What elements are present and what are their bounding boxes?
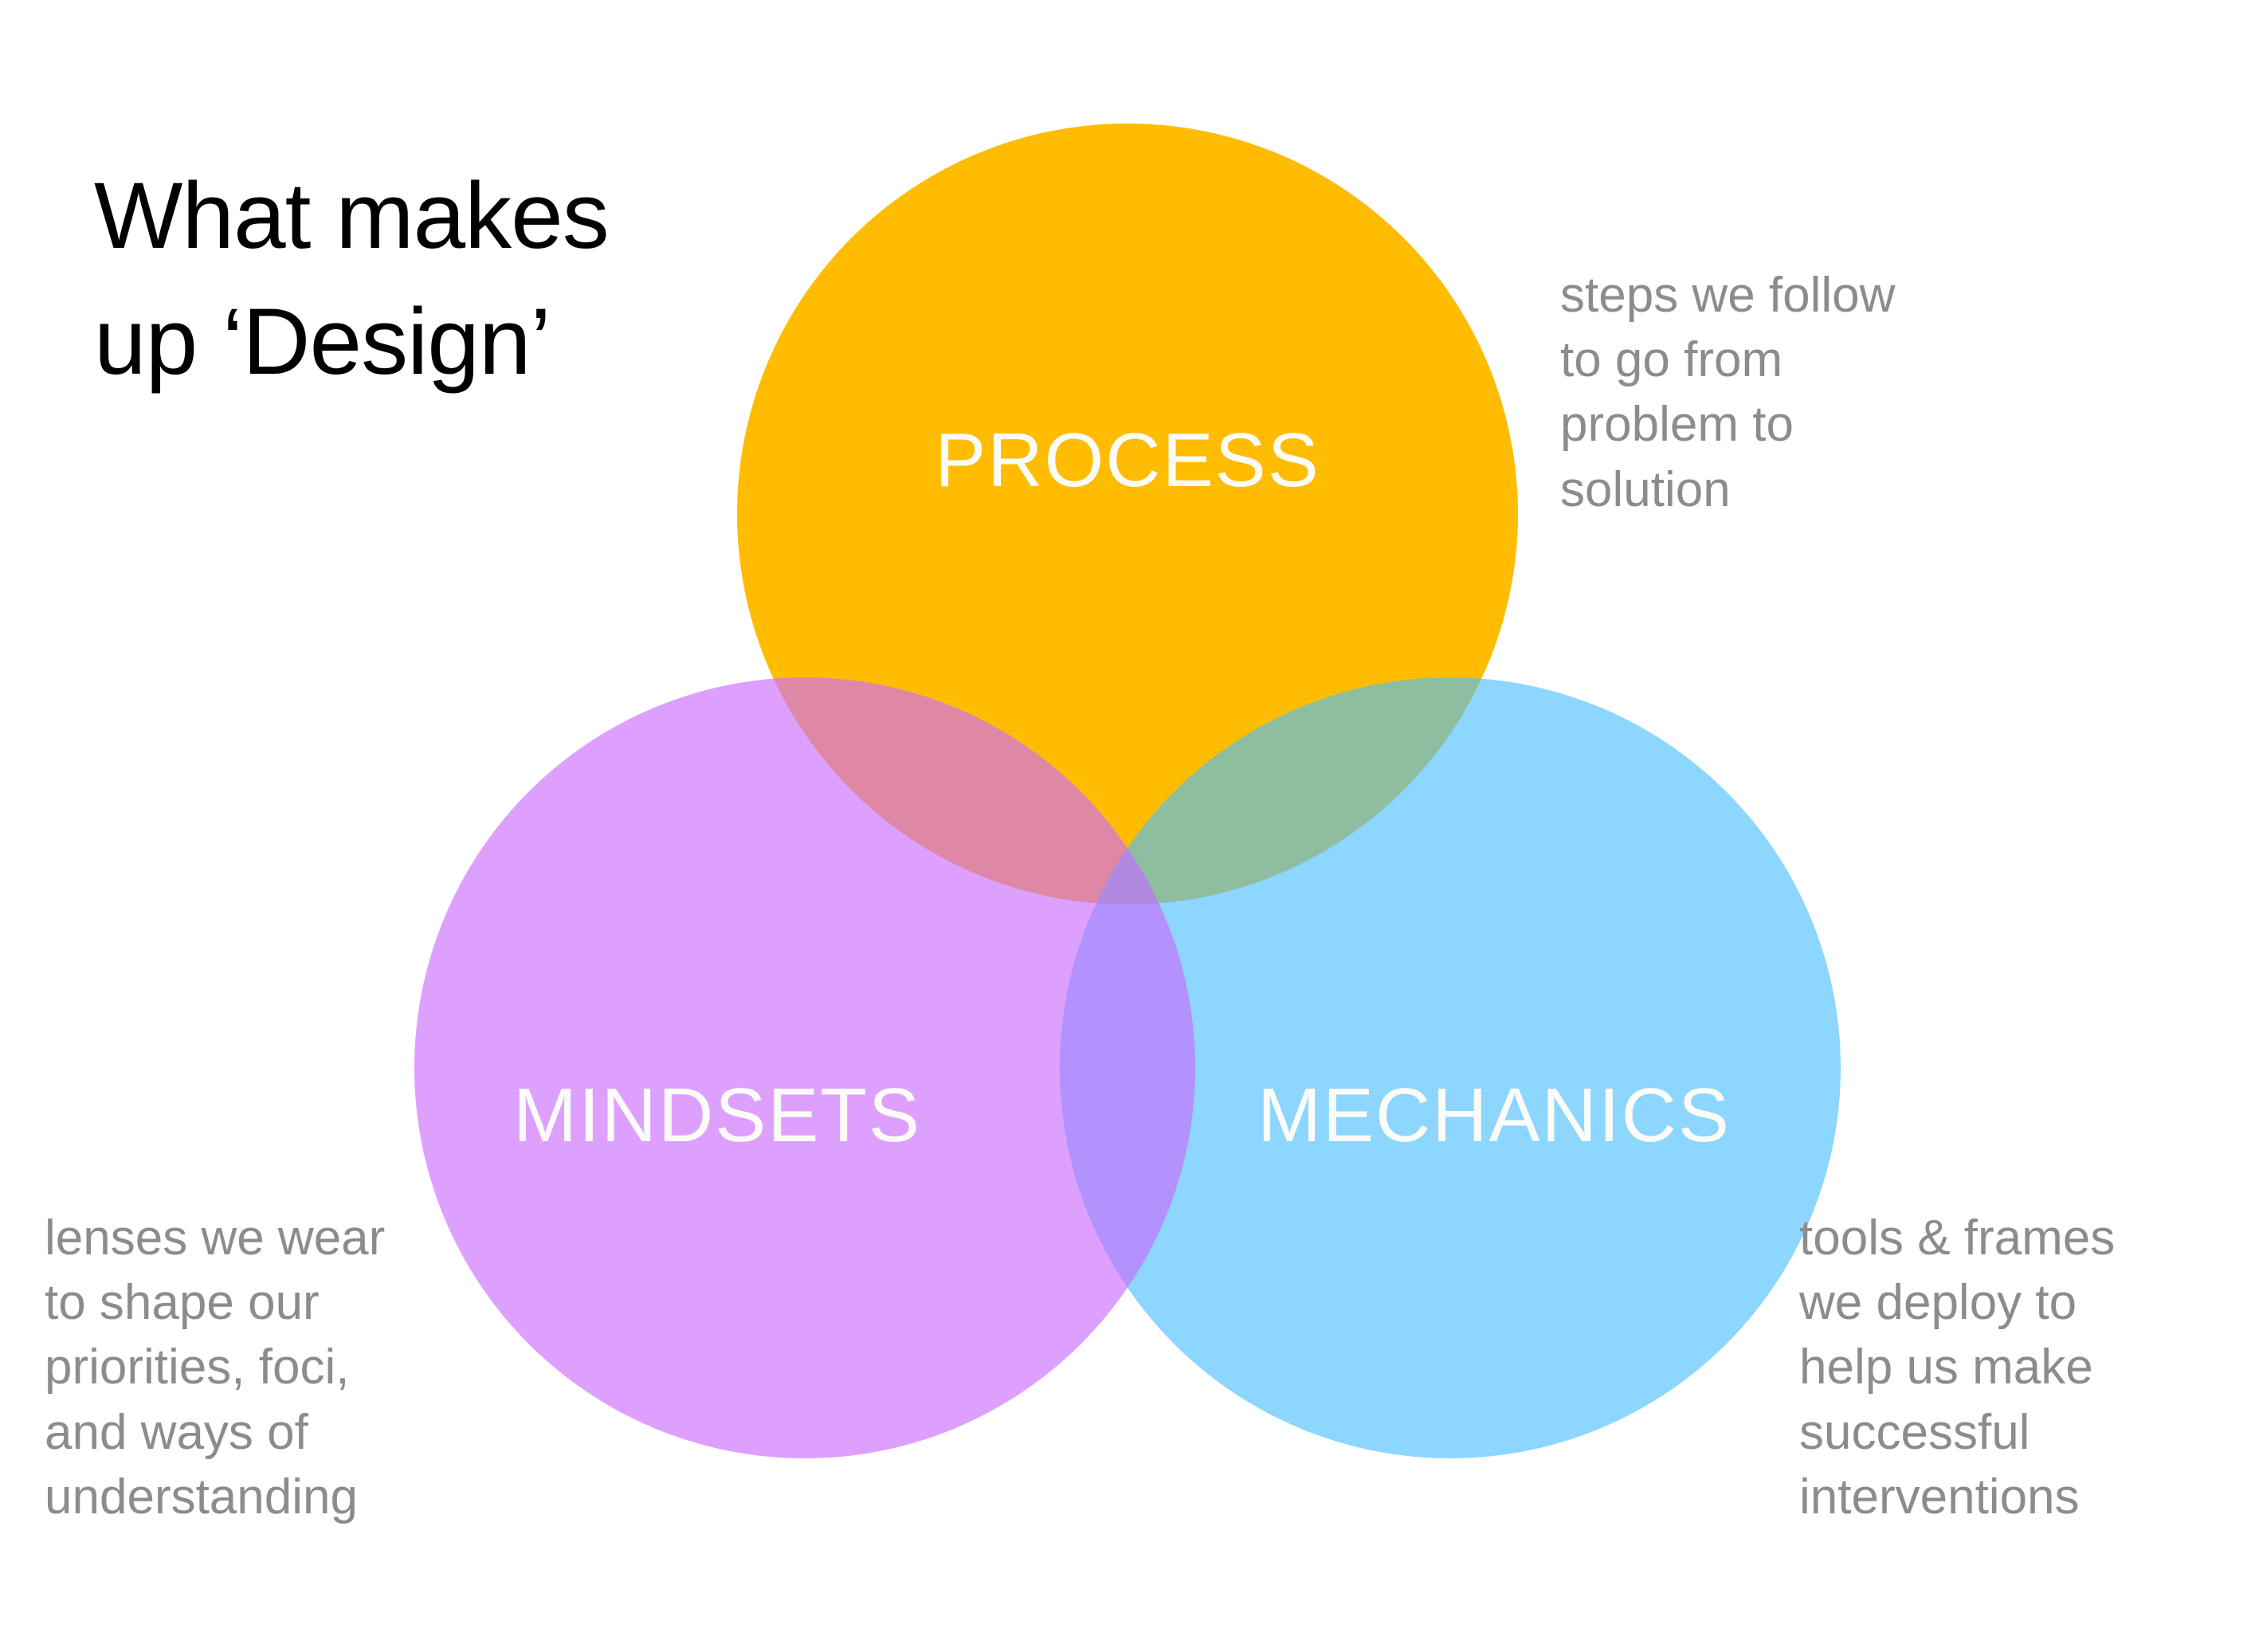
venn-overlap-all bbox=[737, 124, 1518, 904]
venn-circle-mechanics bbox=[1060, 677, 1841, 1458]
page-title: What makes up ‘Design’ bbox=[94, 153, 779, 405]
slide-canvas: What makes up ‘Design’ bbox=[0, 0, 2259, 1652]
description-mechanics: tools & frames we deploy to help us make… bbox=[1799, 1206, 2245, 1529]
venn-circle-mindsets bbox=[414, 677, 1195, 1458]
venn-circle-process bbox=[737, 124, 1518, 904]
description-process: steps we follow to go from problem to so… bbox=[1560, 263, 2006, 522]
venn-overlap-process-mindsets bbox=[737, 124, 1518, 904]
venn-overlap-process-mechanics bbox=[737, 124, 1518, 904]
venn-label-mindsets: MINDSETS bbox=[513, 1072, 921, 1160]
venn-label-mechanics: MECHANICS bbox=[1257, 1072, 1731, 1160]
venn-label-process: PROCESS bbox=[935, 417, 1320, 504]
description-mindsets: lenses we wear to shape our priorities, … bbox=[45, 1206, 459, 1529]
venn-overlap-mindsets-mechanics bbox=[414, 677, 1195, 1458]
